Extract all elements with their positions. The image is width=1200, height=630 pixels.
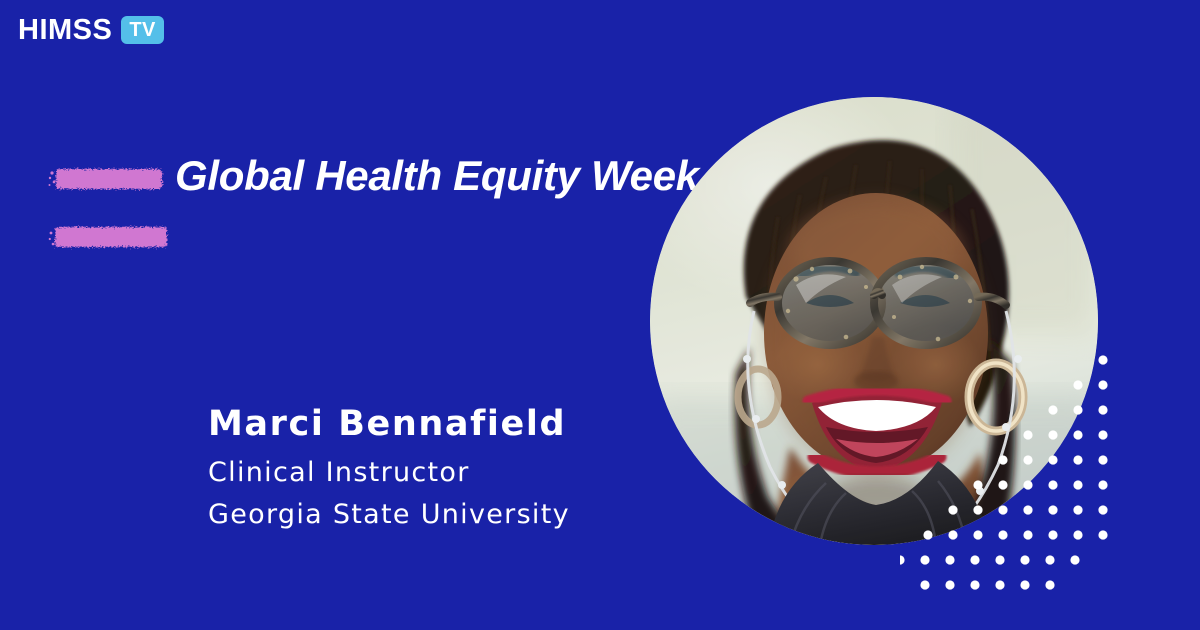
speaker-organization: Georgia State University xyxy=(208,494,648,536)
tv-badge: TV xyxy=(121,16,164,44)
himss-tv-speaker-card: HIMSS TV xyxy=(0,0,1200,630)
himss-tv-logo[interactable]: HIMSS TV xyxy=(18,12,164,48)
event-title: Global Health Equity Week xyxy=(175,154,699,198)
speaker-name: Marci Bennafield xyxy=(208,404,648,444)
speaker-photo xyxy=(650,97,1098,545)
pink-brush-stroke-icon xyxy=(48,224,172,250)
tv-badge-label: TV xyxy=(129,20,156,40)
pink-brush-stroke-icon xyxy=(48,166,166,192)
speaker-info: Marci Bennafield Clinical Instructor Geo… xyxy=(208,404,648,536)
speaker-role: Clinical Instructor xyxy=(208,452,648,494)
himss-wordmark: HIMSS xyxy=(18,16,112,45)
